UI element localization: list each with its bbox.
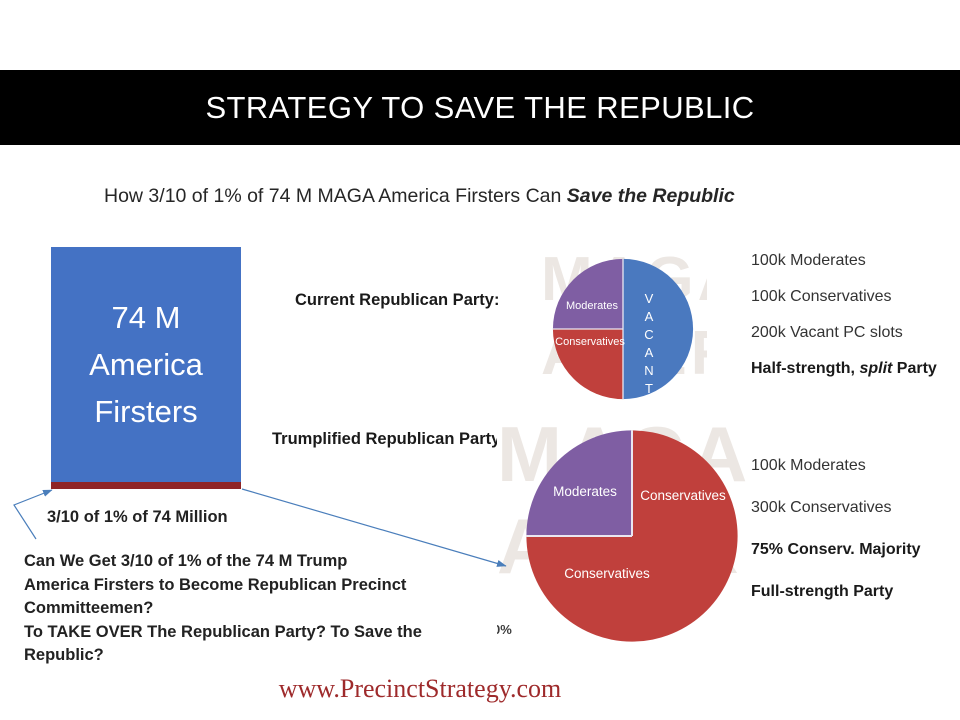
body-question-text: Can We Get 3/10 of 1% of the 74 M Trump … bbox=[24, 550, 454, 668]
stat-line: Full-strength Party bbox=[751, 583, 921, 601]
stats-trumplified-party: 100k Moderates 300k Conservatives 75% Co… bbox=[751, 457, 921, 625]
body-line: Committeemen? bbox=[24, 597, 454, 621]
callout-fraction-label: 3/10 of 1% of 74 Million bbox=[47, 508, 228, 527]
label-trumplified-republican-party: Trumplified Republican Party: bbox=[272, 430, 506, 449]
pie-label-vacant: V A C A N T bbox=[638, 290, 660, 398]
pie-label-moderates: Moderates bbox=[544, 484, 626, 499]
stat-summary-emphasis: split bbox=[859, 360, 892, 377]
body-line: Republic? bbox=[24, 644, 454, 668]
page-title: STRATEGY TO SAVE THE REPUBLIC bbox=[0, 70, 960, 145]
pie-label-conservatives-lower: Conservatives bbox=[560, 566, 654, 581]
subtitle-main: How 3/10 of 1% of 74 M MAGA America Firs… bbox=[104, 185, 567, 207]
pie-label-conservatives: Conservatives bbox=[553, 336, 627, 348]
stat-line: 100k Moderates bbox=[751, 252, 937, 270]
stats-current-party: 100k Moderates 100k Conservatives 200k V… bbox=[751, 252, 937, 396]
body-line: America Firsters to Become Republican Pr… bbox=[24, 574, 454, 598]
stat-line: 100k Conservatives bbox=[751, 288, 937, 306]
pie-svg-trumplified bbox=[522, 426, 742, 646]
label-current-republican-party: Current Republican Party: bbox=[295, 291, 499, 310]
stat-summary-post: Party bbox=[892, 360, 936, 377]
slide-canvas: STRATEGY TO SAVE THE REPUBLIC How 3/10 o… bbox=[0, 0, 960, 720]
title-bar: STRATEGY TO SAVE THE REPUBLIC bbox=[0, 70, 960, 145]
pie-label-moderates: Moderates bbox=[562, 300, 622, 312]
subtitle-emphasis: Save the Republic bbox=[567, 185, 735, 207]
pie-label-conservatives-upper: Conservatives bbox=[636, 488, 730, 503]
stat-line: 200k Vacant PC slots bbox=[751, 324, 937, 342]
pie-svg-current bbox=[550, 256, 696, 402]
pie-graphic-trumplified: Moderates Conservatives Conservatives bbox=[522, 426, 742, 646]
pie-chart-trumplified-party: MAGA AMERICA Moderates Conservatives Con… bbox=[497, 418, 747, 654]
stat-line: 300k Conservatives bbox=[751, 499, 921, 517]
subtitle: How 3/10 of 1% of 74 M MAGA America Firs… bbox=[104, 185, 864, 208]
footer-website-url: www.PrecinctStrategy.com bbox=[0, 674, 840, 704]
red-slice-bar bbox=[51, 482, 241, 489]
america-firsters-box: 74 M America Firsters bbox=[51, 247, 241, 482]
stat-line: 75% Conserv. Majority bbox=[751, 541, 921, 559]
pie-slice-moderates bbox=[553, 259, 623, 329]
pie-chart-current-party: MAGA AMERICA Moderates Conservatives V A… bbox=[541, 249, 707, 407]
pie-graphic-current: Moderates Conservatives V A C A N T bbox=[550, 256, 696, 402]
blue-box-line-2: America bbox=[89, 341, 203, 388]
body-line: Can We Get 3/10 of 1% of the 74 M Trump bbox=[24, 550, 454, 574]
pie-axis-fragment: 0% bbox=[497, 622, 512, 637]
blue-box-line-1: 74 M bbox=[112, 294, 181, 341]
body-line: To TAKE OVER The Republican Party? To Sa… bbox=[24, 621, 454, 645]
blue-box-line-3: Firsters bbox=[94, 388, 197, 435]
stat-summary-half-strength: Half-strength, split Party bbox=[751, 360, 937, 378]
stat-summary-pre: Half-strength, bbox=[751, 360, 859, 377]
stat-line: 100k Moderates bbox=[751, 457, 921, 475]
